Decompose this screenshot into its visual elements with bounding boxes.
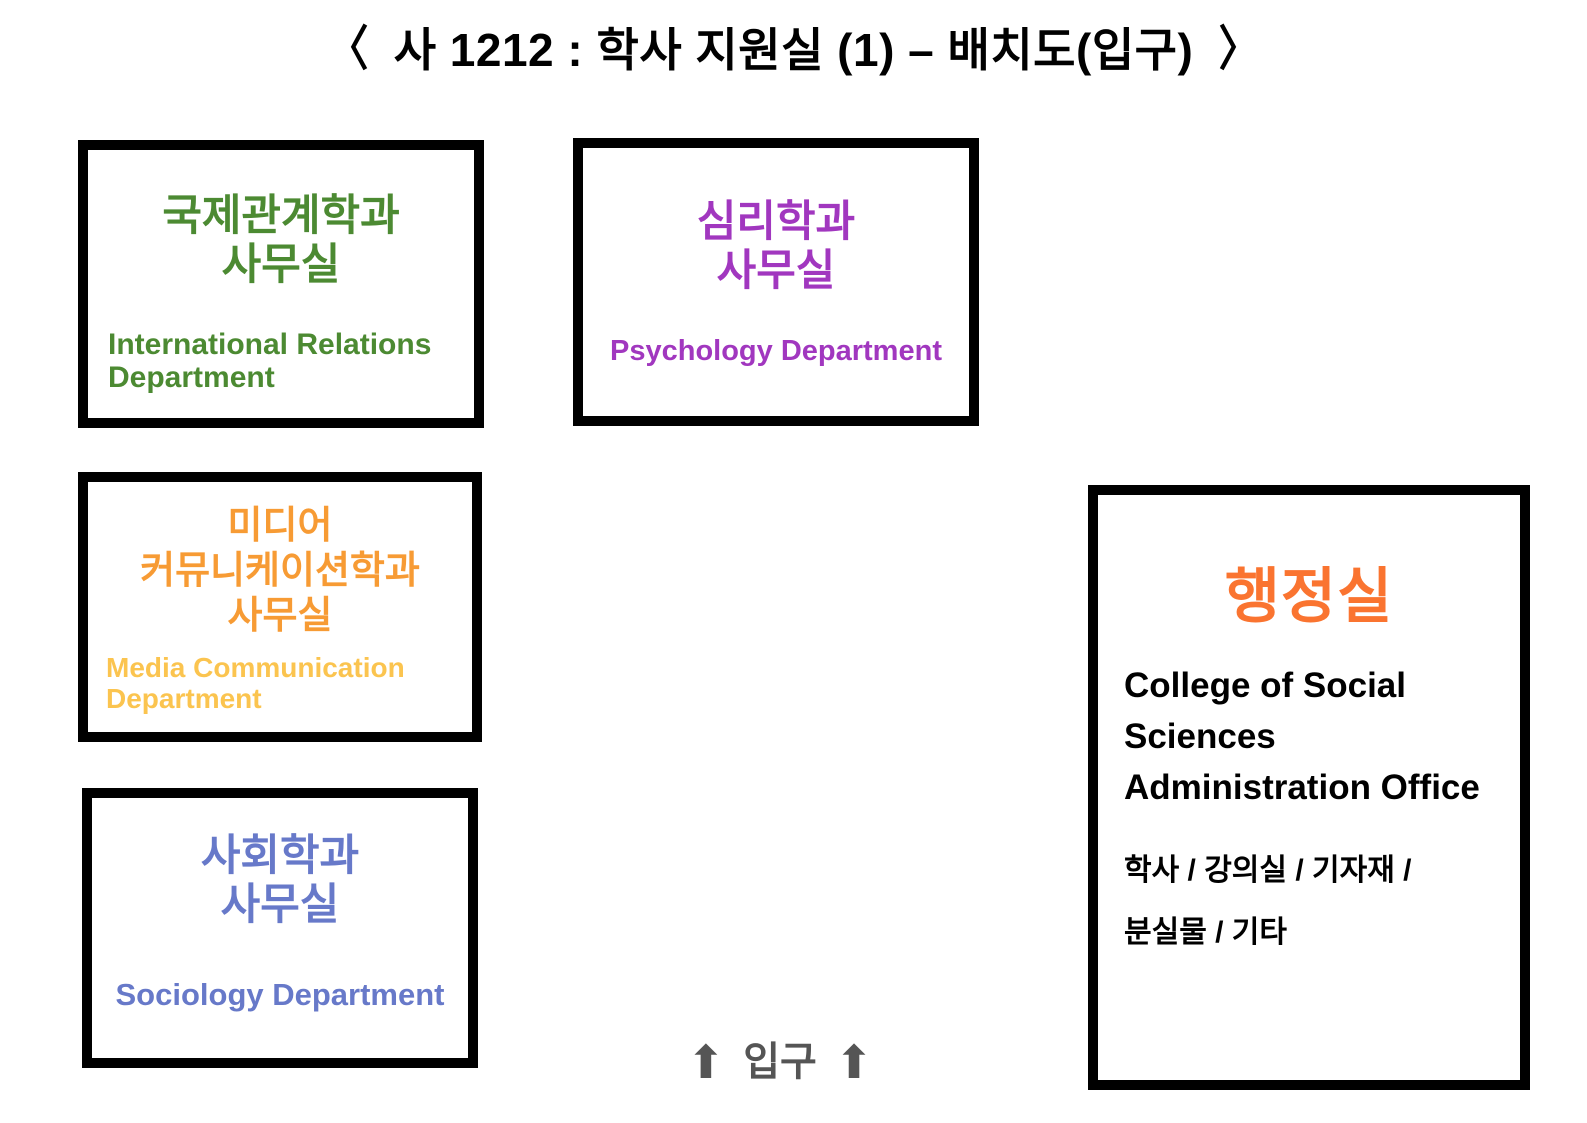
- room-services-line-2: 분실물 / 기타: [1124, 917, 1494, 949]
- room-name-korean: 국제관계학과 사무실: [88, 192, 474, 290]
- arrow-up-icon-left: ⬆: [687, 1039, 726, 1085]
- room-services-line-1: 학사 / 강의실 / 기자재 /: [1124, 855, 1494, 887]
- arrow-up-icon-right: ⬆: [835, 1039, 874, 1085]
- room-box-administration-office[interactable]: 행정실 College of Social Sciences Administr…: [1088, 485, 1530, 1090]
- room-name-english: Media Communication Department: [88, 653, 472, 715]
- entrance-label: 입구: [743, 1042, 817, 1082]
- room-name-korean: 미디어 커뮤니케이션학과 사무실: [88, 504, 472, 638]
- room-name-korean: 행정실: [1124, 567, 1494, 627]
- page-title: 사 1212 : 학사 지원실 (1) – 배치도(입구): [372, 27, 1216, 73]
- floorplan-canvas: 〈사 1212 : 학사 지원실 (1) – 배치도(입구)〉 국제관계학과 사…: [0, 0, 1587, 1123]
- room-name-english: College of Social Sciences Administratio…: [1124, 661, 1494, 813]
- room-name-english: Sociology Department: [92, 978, 468, 1012]
- room-box-sociology[interactable]: 사회학과 사무실 Sociology Department: [82, 788, 478, 1068]
- room-name-korean: 사회학과 사무실: [92, 832, 468, 930]
- room-box-international-relations[interactable]: 국제관계학과 사무실 International Relations Depar…: [78, 140, 484, 428]
- room-name-english: International Relations Department: [88, 328, 474, 394]
- room-name-english: Psychology Department: [583, 336, 969, 368]
- entrance-marker: ⬆ 입구 ⬆: [660, 1034, 900, 1090]
- next-arrow-icon[interactable]: 〉: [1219, 26, 1260, 74]
- page-title-bar: 〈사 1212 : 학사 지원실 (1) – 배치도(입구)〉: [0, 26, 1587, 74]
- room-box-media-communication[interactable]: 미디어 커뮤니케이션학과 사무실 Media Communication Dep…: [78, 472, 482, 742]
- room-name-korean: 심리학과 사무실: [583, 198, 969, 296]
- prev-arrow-icon[interactable]: 〈: [327, 26, 368, 74]
- room-box-psychology[interactable]: 심리학과 사무실 Psychology Department: [573, 138, 979, 426]
